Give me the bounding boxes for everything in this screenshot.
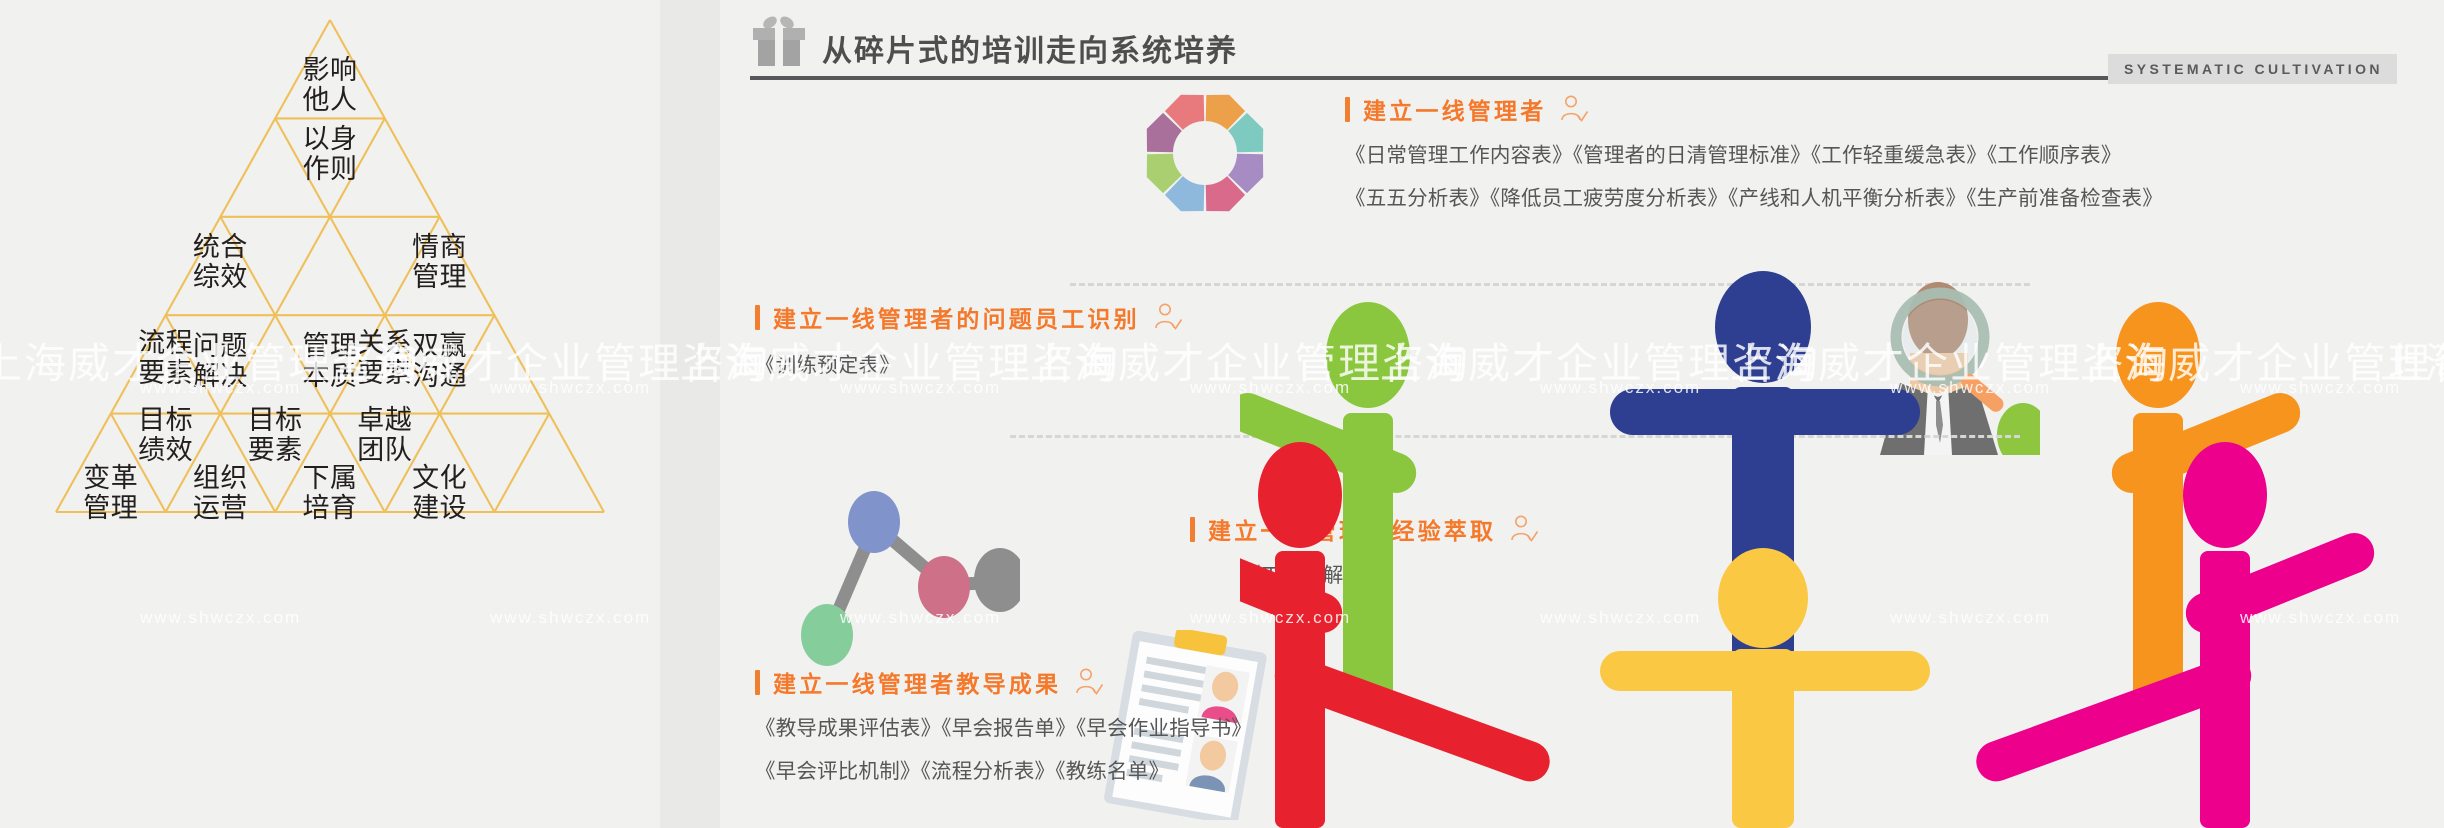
section-title: 建立一线管理者的问题员工识别	[773, 300, 1140, 334]
section-header: 建立一线管理者的问题员工识别	[755, 300, 1182, 334]
section-title: 建立一线管理者教导成果	[773, 665, 1061, 699]
pyramid-grid-svg	[0, 0, 660, 828]
donut-chart-icon	[1140, 88, 1270, 218]
person-check-icon	[1073, 667, 1103, 697]
section-line: 《教导成果评估表》《早会报告单》《早会作业指导书》	[755, 719, 1252, 740]
page-title: 从碎片式的培训走向系统培养	[822, 26, 1238, 70]
section-line: 《早会评比机制》《流程分析表》《教练名单》	[755, 762, 1252, 783]
status-badge: SYSTEMATIC CULTIVATION	[2108, 54, 2397, 84]
accent-bar	[1345, 97, 1350, 122]
accent-bar	[1190, 517, 1195, 542]
section-line: 《五五分析表》《降低员工疲劳度分析表》《产线和人机平衡分析表》《生产前准备检查表…	[1345, 189, 2163, 210]
panel-divider	[660, 0, 720, 828]
right-panel: 从碎片式的培训走向系统培养 SYSTEMATIC CULTIVATION 建立一…	[720, 0, 2444, 828]
person-check-icon	[1152, 302, 1182, 332]
accent-bar	[755, 305, 760, 330]
gift-icon	[750, 14, 808, 66]
left-panel: 影响他人以身作则统合综效情商管理流程要素关系要素问题解决管理本质双赢沟通目标绩效…	[0, 0, 660, 828]
section-line: 《训练预定表》	[755, 356, 1182, 377]
section-problem-employee: 建立一线管理者的问题员工识别 《训练预定表》	[755, 300, 1182, 377]
node-network-illustration	[760, 470, 1020, 670]
person-check-icon	[1558, 94, 1588, 124]
people-team-illustration	[1240, 245, 2444, 828]
right-header: 从碎片式的培训走向系统培养 SYSTEMATIC CULTIVATION	[750, 14, 2420, 70]
section-frontline-manager: 建立一线管理者 《日常管理工作内容表》《管理者的日清管理标准》《工作轻重缓急表》…	[1345, 92, 2163, 209]
section-header: 建立一线管理者	[1345, 92, 2163, 126]
screenshot-root: 影响他人以身作则统合综效情商管理流程要素关系要素问题解决管理本质双赢沟通目标绩效…	[0, 0, 2444, 828]
section-coaching-results: 建立一线管理者教导成果 《教导成果评估表》《早会报告单》《早会作业指导书》 《早…	[755, 665, 1252, 782]
section-title: 建立一线管理者	[1363, 92, 1546, 126]
section-line: 《日常管理工作内容表》《管理者的日清管理标准》《工作轻重缓急表》《工作顺序表》	[1345, 146, 2163, 167]
section-header: 建立一线管理者教导成果	[755, 665, 1252, 699]
accent-bar	[755, 670, 760, 695]
leadership-pyramid: 影响他人以身作则统合综效情商管理流程要素关系要素问题解决管理本质双赢沟通目标绩效…	[0, 0, 660, 828]
